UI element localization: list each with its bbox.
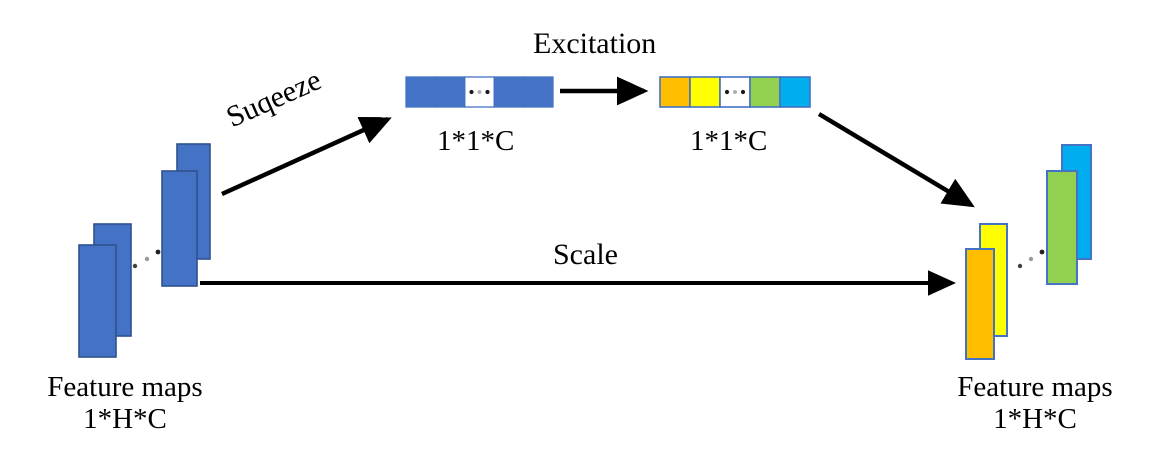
output-feature-maps [966,145,1091,359]
output-slab-front-orange [966,249,994,359]
excitation-cell-1 [690,77,720,107]
squeeze-cell-1 [435,77,464,107]
squeeze-cell-3 [494,77,523,107]
excitation-cell-3 [750,77,780,107]
input-feature-maps-caption: Feature maps 1*H*C [10,371,240,436]
excitation-vector-dim-label: 1*1*C [690,126,767,157]
input-feature-maps [79,144,210,357]
squeeze-ellipsis-icon [469,90,489,94]
input-slab-front-2 [162,171,197,286]
squeeze-cell-4 [524,77,553,107]
excitation-ellipsis-icon [725,90,745,94]
squeeze-cell-0 [406,77,435,107]
output-caption-line-1: Feature maps [920,371,1150,403]
excitation-label: Excitation [533,28,656,60]
excitation-vector [660,77,810,107]
output-caption-line-2: 1*H*C [920,403,1150,435]
input-ellipsis-icon [133,250,161,269]
output-ellipsis-icon [1018,250,1045,269]
output-slab-front-green [1047,171,1077,284]
input-caption-line-2: 1*H*C [10,403,240,435]
input-caption-line-1: Feature maps [10,371,240,403]
input-slab-front-1 [79,245,116,357]
squeeze-arrow [222,119,388,194]
excitation-cell-4 [780,77,810,107]
squeeze-vector [406,77,553,107]
scale-label: Scale [553,239,618,271]
squeeze-vector-dim-label: 1*1*C [437,126,514,157]
recalibrate-arrow [819,114,971,205]
excitation-cell-0 [660,77,690,107]
figure-canvas: Suqeeze Excitation Scale 1*1*C 1*1*C Fea… [0,0,1175,462]
output-feature-maps-caption: Feature maps 1*H*C [920,371,1150,436]
